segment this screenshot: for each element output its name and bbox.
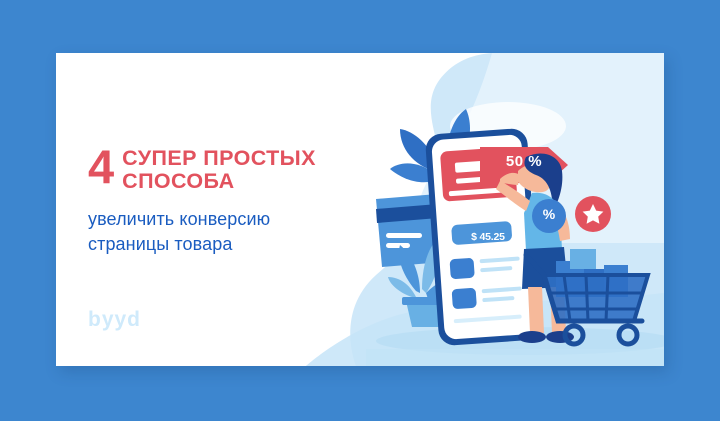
subheading-line-2: страницы товара — [88, 232, 388, 257]
price-chip-label: $ 45.25 — [460, 231, 516, 243]
percent-badge-label: % — [534, 206, 564, 222]
brand-logo: byyd — [88, 308, 141, 332]
headline-row: 4 СУПЕР ПРОСТЫХ СПОСОБА — [88, 145, 388, 193]
subheading-line-1: увеличить конверсию — [88, 207, 388, 232]
headline-line-2: СПОСОБА — [122, 170, 316, 193]
discount-tag-label: 50 % — [488, 153, 560, 170]
headline-line-1: СУПЕР ПРОСТЫХ — [122, 147, 316, 170]
content-card: 50 % $ 45.25 % 4 СУПЕР ПРОСТЫХ СПОСОБА у… — [56, 53, 664, 366]
headline-block: 4 СУПЕР ПРОСТЫХ СПОСОБА увеличить конвер… — [88, 145, 388, 257]
poster-canvas: 50 % $ 45.25 % 4 СУПЕР ПРОСТЫХ СПОСОБА у… — [0, 0, 720, 421]
subheading-block: увеличить конверсию страницы товара — [88, 207, 388, 257]
star-badge — [575, 196, 611, 232]
headline-number: 4 — [88, 145, 113, 189]
headline-lines: СУПЕР ПРОСТЫХ СПОСОБА — [122, 145, 316, 193]
